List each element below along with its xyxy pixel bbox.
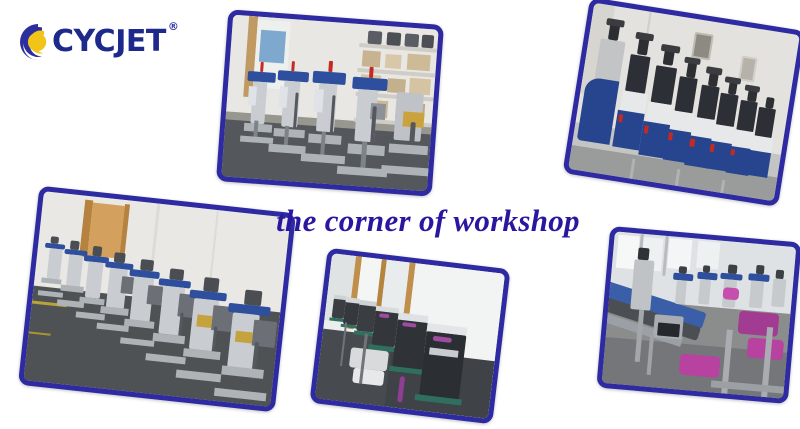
photo-production-line (596, 226, 800, 404)
cycjet-wordmark: CYCJET® (52, 27, 178, 57)
cycjet-logo: CYCJET® (8, 18, 198, 66)
photo-workshop-machine-row (216, 9, 444, 196)
photo-1-scene (221, 15, 438, 192)
photo-5-scene (602, 231, 797, 398)
brand-name-text: CYCJET (52, 24, 166, 59)
page-title: the corner of workshop (238, 203, 618, 239)
photo-cabinets-by-windows (309, 248, 510, 425)
photo-4-scene (315, 253, 505, 419)
photo-blue-machine-line (562, 0, 800, 207)
workshop-gallery-banner: CYCJET® the corner of workshop (0, 0, 800, 429)
cycjet-crescent-logo-icon (8, 21, 58, 63)
photo-2-scene (568, 3, 800, 201)
registered-trademark-icon: ® (168, 20, 179, 33)
